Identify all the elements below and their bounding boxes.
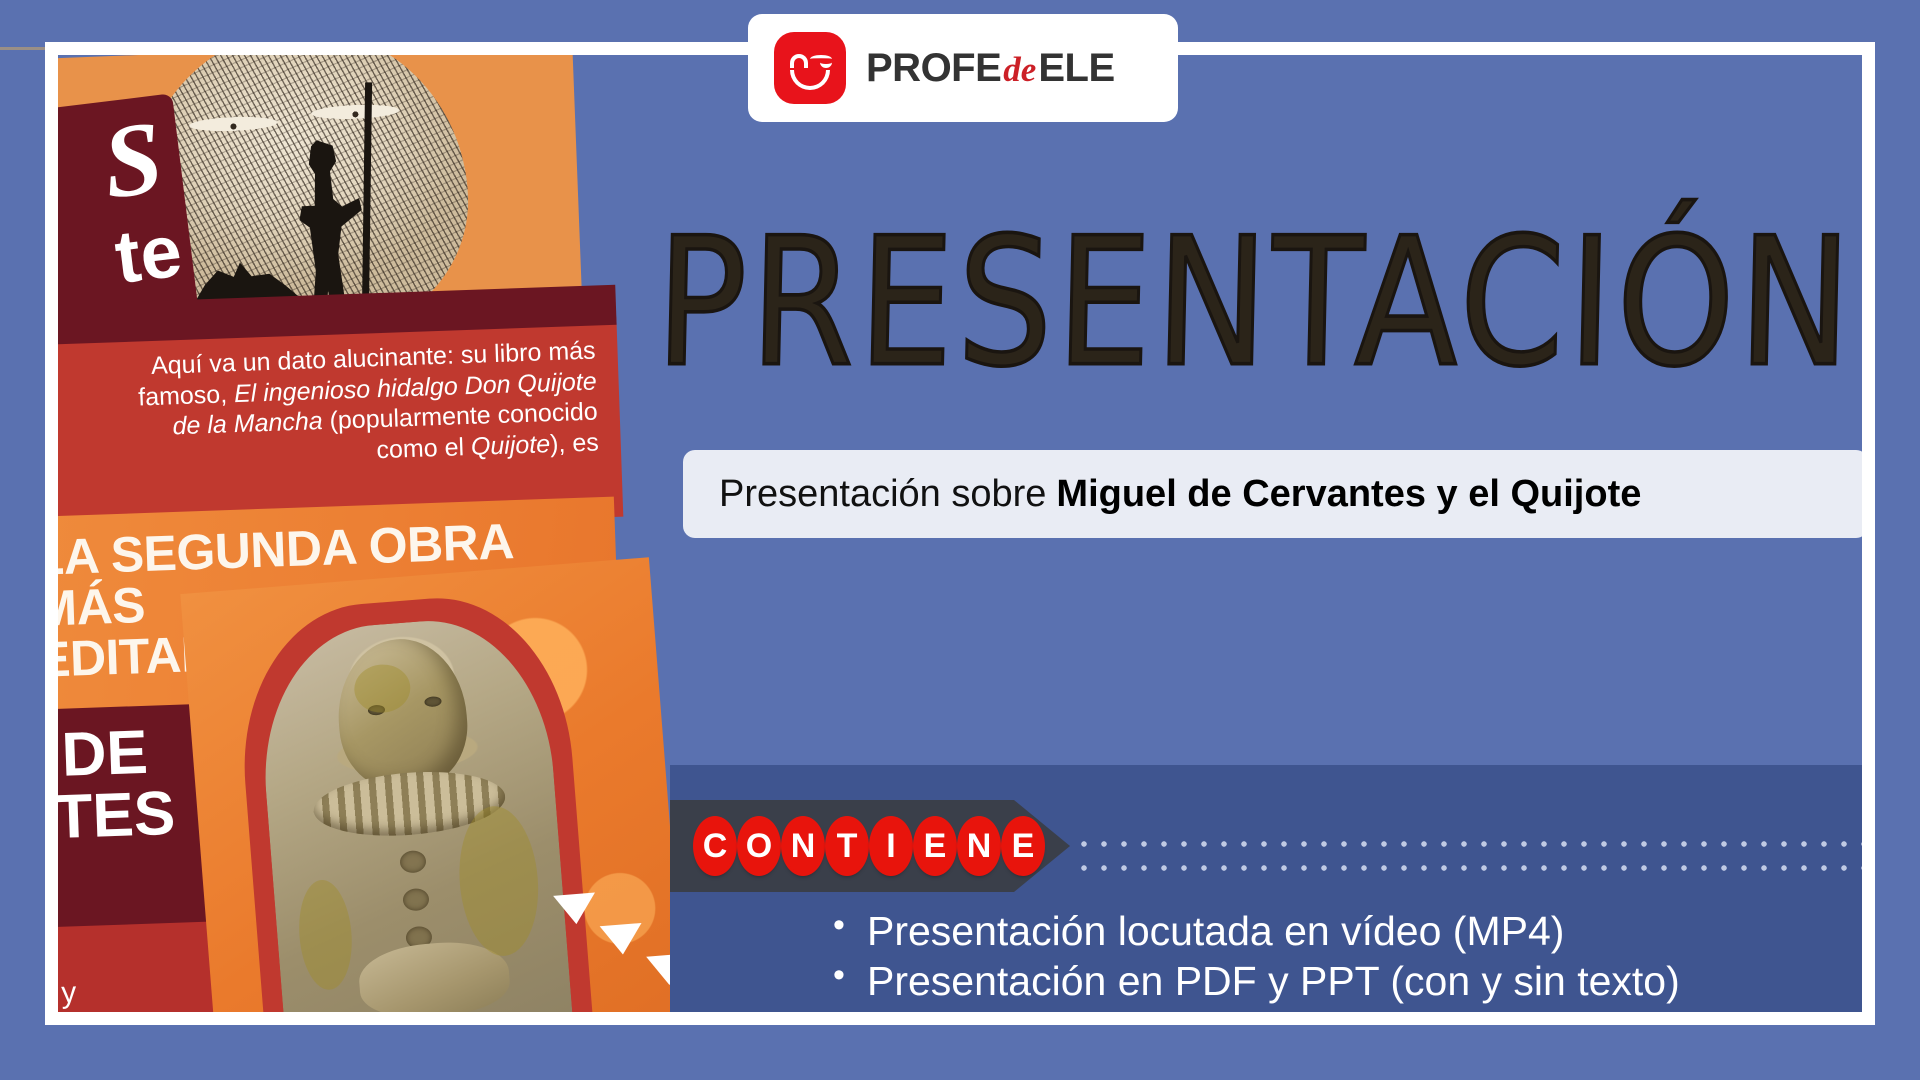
list-item: Guion de la presentación en formato edit… (833, 1008, 1862, 1012)
profedeele-smiley-icon (774, 32, 846, 104)
logo-smile (790, 70, 830, 90)
subtitle-bar: Presentación sobre Miguel de Cervantes y… (683, 450, 1862, 538)
subtitle-bold: Miguel de Cervantes y el Quijote (1056, 473, 1641, 516)
contiene-letter-7: E (1004, 819, 1042, 873)
logo-word-ele: ELE (1038, 46, 1114, 91)
slide-canvas: S te Aquí va un dato alucinante: su libr… (58, 55, 1862, 1012)
logo-word-de: de (1003, 50, 1036, 90)
statue-moss-2 (295, 878, 355, 992)
contiene-letter-3: T (828, 819, 866, 873)
contiene-letter-6: N (960, 819, 998, 873)
para-line-4-tail: ), es (550, 428, 600, 458)
para-line-2-plain: famoso, (138, 380, 235, 411)
name-line-2: NTES (58, 783, 176, 851)
subtitle-regular: Presentación sobre (719, 473, 1046, 516)
logo-eye-n (790, 54, 808, 68)
name-card-text: L DE NTES (58, 721, 176, 851)
brand-logo-pill[interactable]: PROFE de ELE (748, 14, 1178, 122)
left-image-collage: S te Aquí va un dato alucinante: su libr… (58, 55, 748, 1012)
edge-rule (0, 47, 48, 50)
logo-eye-tilde (810, 54, 832, 64)
cervantes-statue-photo (247, 603, 581, 1012)
triangle-2 (600, 923, 644, 956)
triangle-1 (553, 893, 597, 926)
para-line-4-plain: como el (376, 432, 471, 463)
contiene-letter-2: N (784, 819, 822, 873)
statue-button-1 (399, 850, 427, 874)
red-card-paragraph: Aquí va un dato alucinante: su libro más… (58, 336, 599, 477)
list-item: Presentación en PDF y PPT (con y sin tex… (833, 957, 1862, 1005)
statue-eye-right (424, 696, 442, 707)
contiene-letter-0: C (696, 819, 734, 873)
list-item: Presentación locutada en vídeo (MP4) (833, 907, 1862, 955)
contiene-label: C O N T I E N E (696, 819, 1042, 873)
contiene-letter-5: E (916, 819, 954, 873)
page-title: PRESENTACIÓN (654, 215, 1862, 392)
statue-moss-1 (454, 803, 544, 959)
dotted-decoration (1078, 837, 1862, 879)
fragment-letter-s: S (98, 105, 168, 215)
statue-head (333, 634, 472, 794)
contiene-letter-4: I (872, 819, 910, 873)
para-line-3-italic: de la Mancha (172, 407, 323, 440)
logo-word-profe: PROFE (866, 46, 1001, 91)
contiene-letter-1: O (740, 819, 778, 873)
dot-row-2 (1078, 861, 1862, 875)
contiene-item-list: Presentación locutada en vídeo (MP4) Pre… (833, 907, 1862, 1012)
cervantes-statue-card (180, 557, 685, 1012)
fragment-letters-te: te (111, 214, 185, 295)
statue-button-2 (402, 888, 430, 912)
dot-row-1 (1078, 837, 1862, 851)
contiene-banner: C O N T I E N E (670, 800, 1070, 892)
para-line-4-italic: Quijote (470, 430, 550, 461)
